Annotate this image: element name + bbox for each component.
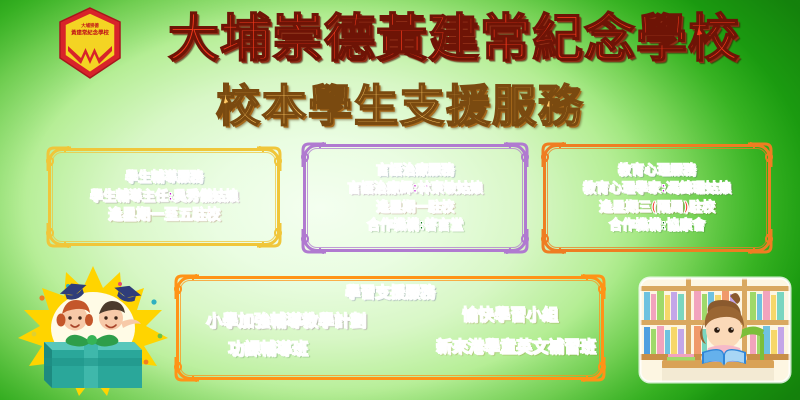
school-crest-logo: 大埔崇德 黃建常紀念學校 [57,6,123,80]
service-schedule: 逢星期一駐校 [376,200,454,215]
box-speech-therapy-service: 言語治療服務 言語治療師:林東敏姑娘 逢星期一駐校 合作機構:啓言堂 [303,144,527,252]
box-educational-psychology-service: 教育心理服務 教育心理學家:馮錦珊姑娘 逢星期三(隔周)駐校 合作機構:協康會 [543,144,771,252]
banner-header: 大埔崇德 黃建常紀念學校 大埔崇德黃建常紀念學校 校本學生支援服務 [0,0,800,140]
program-homework-tutorial-class: 功課輔導班 [228,340,308,359]
program-happy-learning-group: 愉快學習小組 [462,306,558,325]
crest-top-text: 大埔崇德 [81,22,99,29]
service-title: 教育心理服務 [618,163,696,178]
service-schedule: 逢星期三(隔周)駐校 [599,200,715,215]
banner-canvas: 大埔崇德 黃建常紀念學校 大埔崇德黃建常紀念學校 校本學生支援服務 學生輔導服務… [0,0,800,400]
service-staff: 學生輔導主任:吳秀儀姑娘 [90,189,238,204]
banner-subtitle: 校本學生支援服務 [120,80,680,134]
service-schedule: 逢星期一至五駐校 [108,207,220,224]
service-partner: 合作機構:協康會 [609,218,705,233]
service-staff: 教育心理學家:馮錦珊姑娘 [583,181,731,196]
reading-child-illustration [634,272,796,396]
box-text-lines: 學生輔導服務 學生輔導主任:吳秀儀姑娘 逢星期一至五駐校 [48,148,280,246]
learning-support-title: 學習支援服務 [176,284,604,302]
box-text-lines: 學習支援服務 小學加強輔導教學計劃 功課輔導班 愉快學習小組 新來港學童英文補習… [176,276,604,380]
program-primary-enhanced-teaching: 小學加強輔導教學計劃 [206,312,366,331]
program-newly-arrived-english-class: 新來港學童英文補習班 [436,338,596,357]
box-text-lines: 教育心理服務 教育心理學家:馮錦珊姑娘 逢星期三(隔周)駐校 合作機構:協康會 [543,144,771,252]
box-text-lines: 言語治療服務 言語治療師:林東敏姑娘 逢星期一駐校 合作機構:啓言堂 [303,144,527,252]
box-learning-support-service: 學習支援服務 小學加強輔導教學計劃 功課輔導班 愉快學習小組 新來港學童英文補習… [176,276,604,380]
gift-box-illustration [8,262,178,400]
crest-main-text: 黃建常紀念學校 [70,29,109,37]
service-title: 言語治療服務 [376,163,454,178]
box-student-counselling-service: 學生輔導服務 學生輔導主任:吳秀儀姑娘 逢星期一至五駐校 [48,148,280,246]
service-staff: 言語治療師:林東敏姑娘 [347,181,482,196]
service-title: 學生輔導服務 [125,170,203,185]
service-partner: 合作機構:啓言堂 [367,218,463,233]
school-name-title: 大埔崇德黃建常紀念學校 [120,8,788,72]
